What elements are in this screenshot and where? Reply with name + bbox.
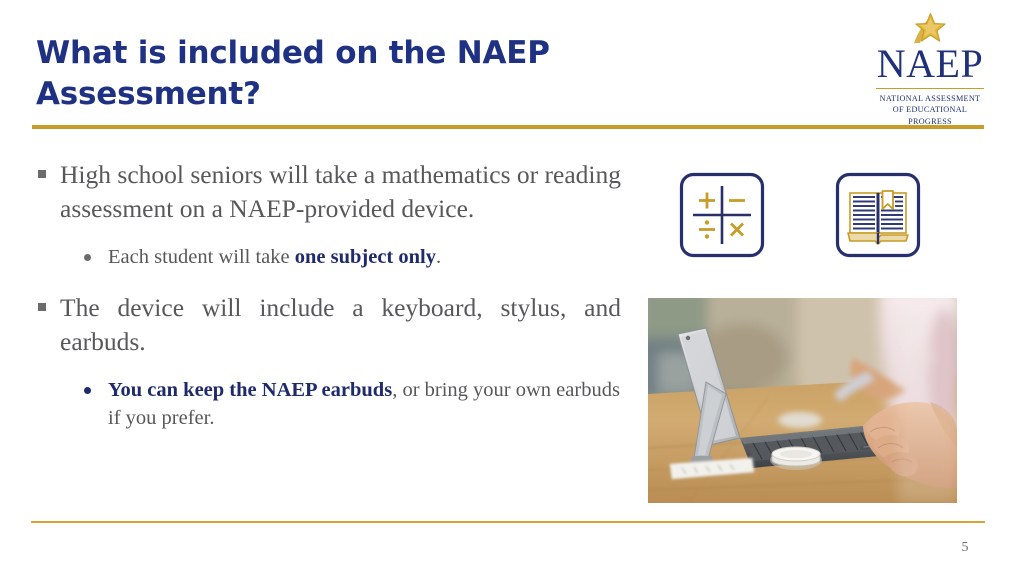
- title-divider-rule: [32, 125, 984, 129]
- bullet-item: High school seniors will take a mathemat…: [36, 158, 621, 226]
- square-bullet-icon: [38, 303, 46, 311]
- dot-bullet-icon: [84, 387, 91, 394]
- square-bullet-icon: [38, 170, 46, 178]
- student-using-tablet-photo: [648, 298, 957, 503]
- logo-tagline-line2: OF EDUCATIONAL: [866, 104, 994, 115]
- sub-bullet-text-before: Each student will take: [108, 246, 295, 268]
- dot-bullet-icon: [84, 254, 91, 261]
- sub-bullet-text-emphasis: You can keep the NAEP earbuds: [108, 379, 392, 401]
- page-title: What is included on the NAEP Assessment?: [36, 33, 636, 115]
- slide: What is included on the NAEP Assessment?…: [0, 0, 1012, 573]
- math-symbols-icon: [679, 172, 765, 258]
- open-book-icon: [835, 172, 921, 258]
- sub-bullet-text-emphasis: one subject only: [295, 246, 436, 268]
- bullet-item: The device will include a keyboard, styl…: [36, 291, 621, 359]
- logo-tagline-line1: NATIONAL ASSESSMENT: [866, 93, 994, 104]
- sub-bullet-item: You can keep the NAEP earbuds, or bring …: [78, 377, 621, 432]
- bullet-text: High school seniors will take a mathemat…: [60, 160, 621, 223]
- naep-wordmark: NAEP: [866, 44, 994, 84]
- sub-bullet-item: Each student will take one subject only.: [78, 244, 621, 272]
- logo-divider: [876, 88, 984, 89]
- logo-tagline-line3: PROGRESS: [866, 116, 994, 127]
- body-content: High school seniors will take a mathemat…: [36, 158, 621, 433]
- naep-logo: NAEP NATIONAL ASSESSMENT OF EDUCATIONAL …: [866, 12, 994, 127]
- page-number: 5: [950, 540, 980, 556]
- sub-bullet-text-after: .: [436, 246, 441, 268]
- footer-divider-rule: [31, 521, 985, 523]
- bullet-text: The device will include a keyboard, styl…: [60, 293, 621, 356]
